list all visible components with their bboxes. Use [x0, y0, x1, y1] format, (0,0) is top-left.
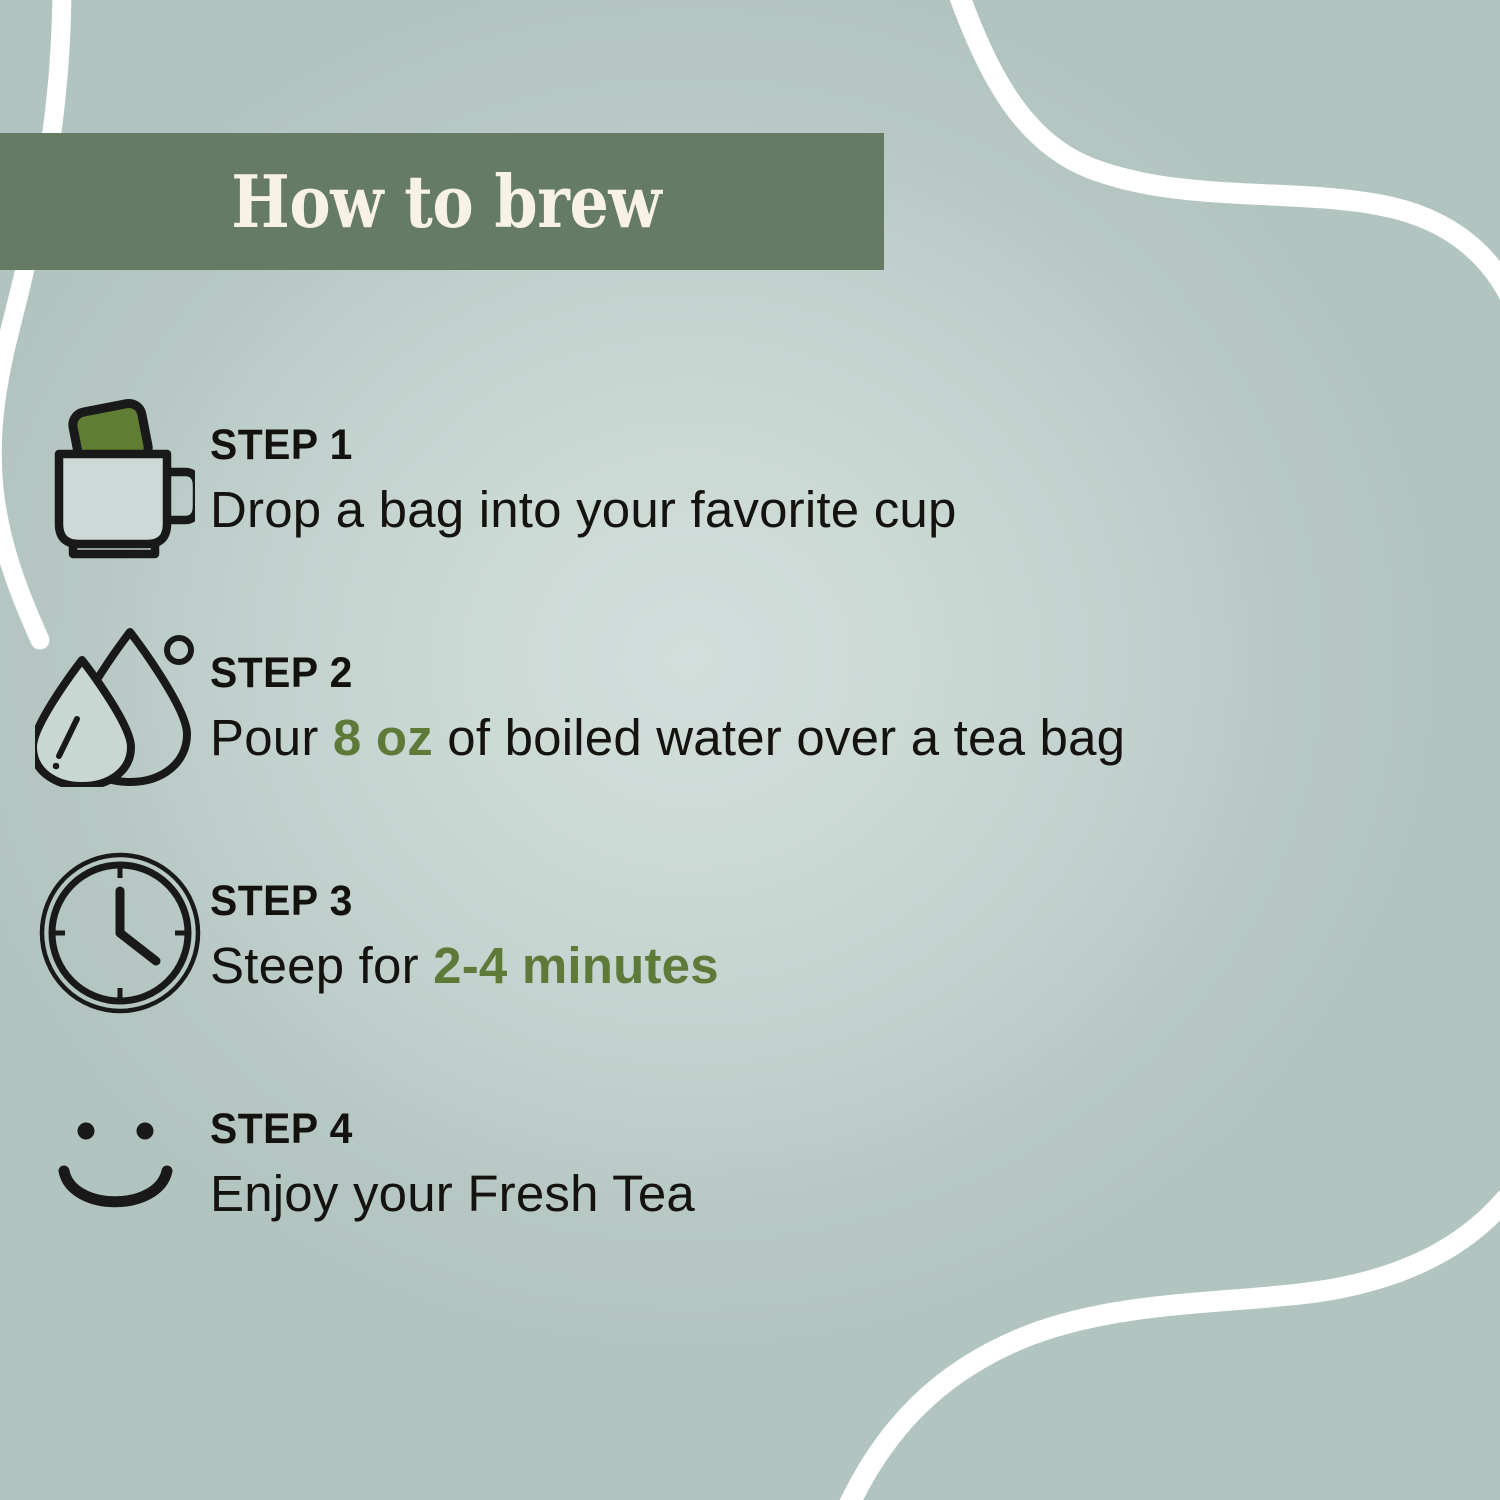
header-banner: How to brew [0, 133, 884, 270]
step-label: STEP 2 [210, 652, 1079, 695]
clock-icon [0, 836, 210, 1026]
desc-highlight: 2-4 minutes [433, 937, 719, 994]
step-description: Pour 8 oz of boiled water over a tea bag [210, 709, 1125, 766]
desc-after: of boiled water over a tea bag [433, 709, 1125, 766]
desc-before: Pour [210, 709, 333, 766]
step-description: Drop a bag into your favorite cup [210, 481, 957, 538]
desc-before: Steep for [210, 937, 433, 994]
step-description: Enjoy your Fresh Tea [210, 1165, 695, 1222]
step-row: STEP 2 Pour 8 oz of boiled water over a … [0, 608, 1500, 836]
step-text: STEP 1 Drop a bag into your favorite cup [210, 380, 957, 538]
steps-list: STEP 1 Drop a bag into your favorite cup [0, 380, 1500, 1292]
smiley-face-icon [0, 1064, 210, 1254]
page-title: How to brew [62, 133, 822, 270]
desc-before: Drop a bag into your favorite cup [210, 481, 957, 538]
step-row: STEP 3 Steep for 2-4 minutes [0, 836, 1500, 1064]
how-to-brew-poster: How to brew STEP 1 [0, 0, 1500, 1500]
water-drops-icon [0, 608, 210, 798]
step-text: STEP 3 Steep for 2-4 minutes [210, 836, 719, 994]
step-text: STEP 4 Enjoy your Fresh Tea [210, 1064, 695, 1222]
step-label: STEP 3 [210, 880, 693, 923]
ribbon-top-right-icon [952, 0, 1500, 300]
desc-before: Enjoy your Fresh Tea [210, 1165, 695, 1222]
step-text: STEP 2 Pour 8 oz of boiled water over a … [210, 608, 1125, 766]
desc-highlight: 8 oz [333, 709, 433, 766]
step-row: STEP 1 Drop a bag into your favorite cup [0, 380, 1500, 608]
step-label: STEP 1 [210, 424, 919, 467]
step-description: Steep for 2-4 minutes [210, 937, 719, 994]
step-row: STEP 4 Enjoy your Fresh Tea [0, 1064, 1500, 1292]
mug-with-teabag-icon [0, 380, 210, 570]
step-label: STEP 4 [210, 1108, 671, 1151]
